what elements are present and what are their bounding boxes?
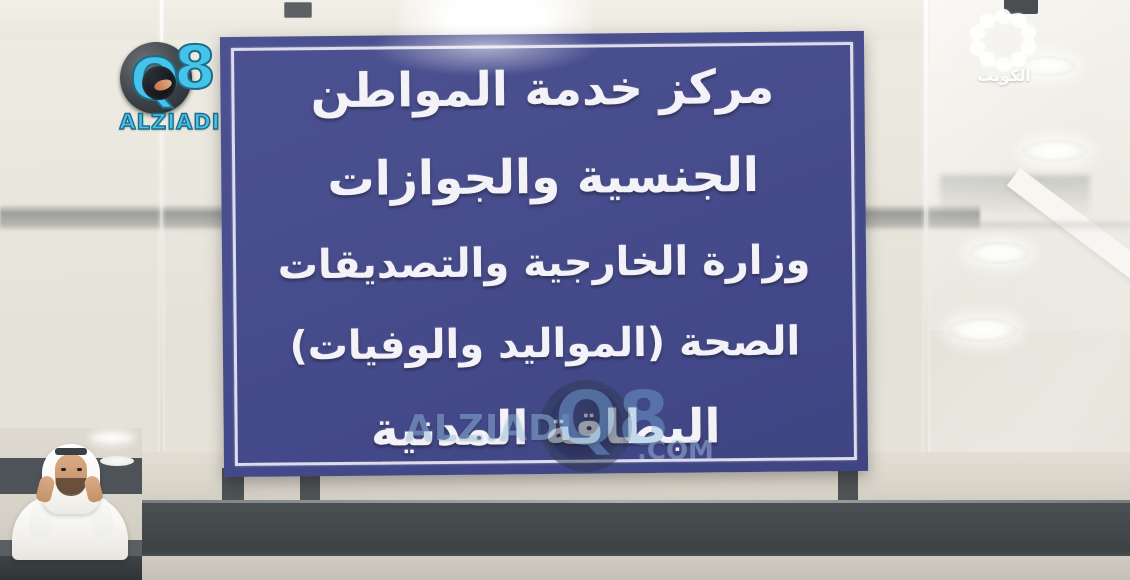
logo-digit-8: 8 <box>174 38 216 98</box>
ceiling-downlight <box>1022 140 1088 162</box>
sign-text-block: مركز خدمة المواطن الجنسية والجوازات وزار… <box>246 53 842 459</box>
sign-line-2: الجنسية والجوازات <box>247 151 839 204</box>
ceiling-downlight <box>968 242 1030 264</box>
q8-alziadi-logo: Q 8 ALZIADI <box>118 36 222 136</box>
sign-line-1: مركز خدمة المواطن <box>246 53 839 116</box>
floor <box>0 556 1130 580</box>
interpreter-eye <box>77 468 82 471</box>
interpreter-agal <box>55 448 87 455</box>
petal-rosette-icon <box>966 8 1040 72</box>
sign-language-interpreter-inset <box>0 428 142 580</box>
glass-partition-mullion <box>924 0 928 520</box>
logo-wordmark: ALZIADI <box>118 110 222 134</box>
kuwait-tv-logo: الكويت <box>966 8 1058 94</box>
kuwait-logo-label: الكويت <box>964 66 1044 85</box>
service-counter <box>0 500 1130 560</box>
sign-line-3: وزارة الخارجية والتصديقات <box>248 240 840 286</box>
sign-line-4: الصحة (المواليد والوفيات) <box>249 321 841 367</box>
inset-ceiling-light <box>100 456 134 466</box>
ceiling-vent <box>284 2 312 18</box>
petal-icon <box>979 12 996 29</box>
video-frame: مركز خدمة المواطن الجنسية والجوازات وزار… <box>0 0 1130 580</box>
sign-line-5: البطاقة المدنية <box>249 402 841 459</box>
counter-highlight <box>0 500 1130 503</box>
interpreter-eye <box>61 468 66 471</box>
ceiling-downlight <box>948 318 1018 342</box>
inset-ceiling-light <box>92 432 132 444</box>
directory-sign-board: مركز خدمة المواطن الجنسية والجوازات وزار… <box>220 31 868 477</box>
